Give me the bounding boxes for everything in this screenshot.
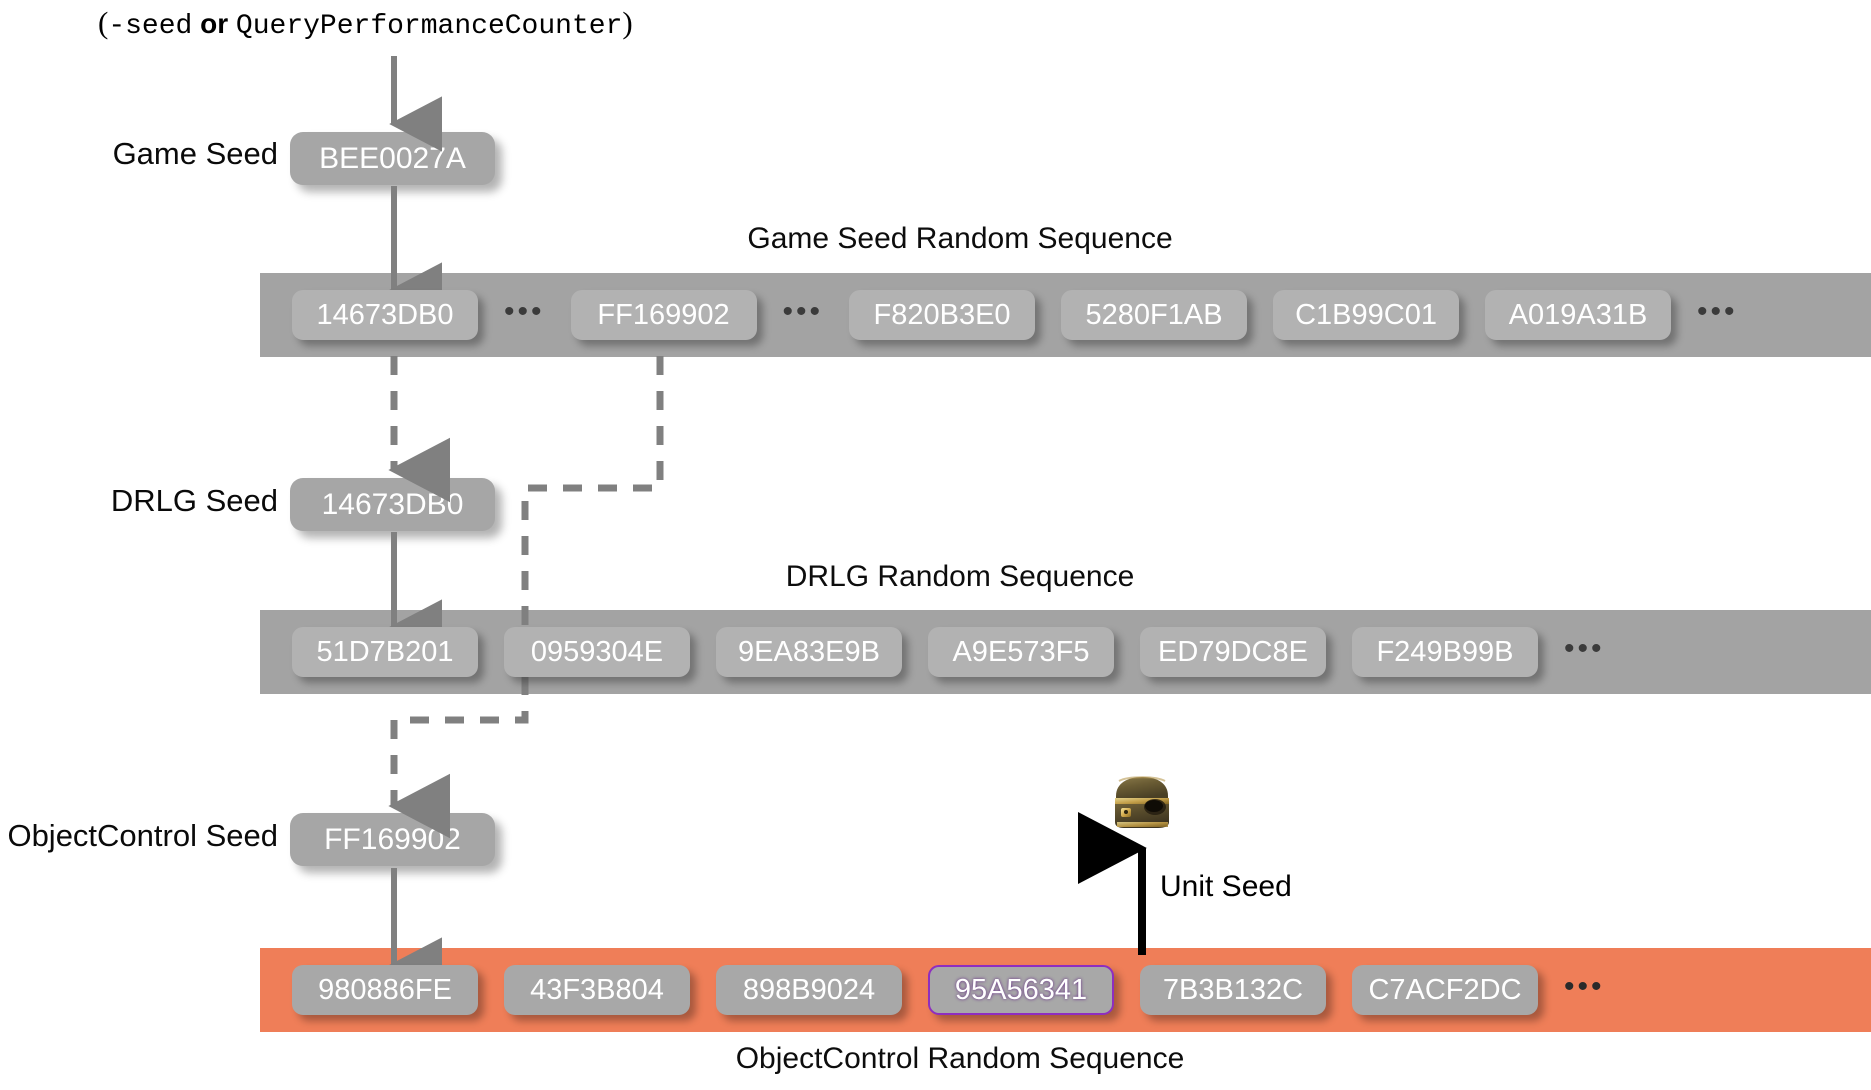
sequence-value: C7ACF2DC — [1352, 965, 1538, 1015]
objectcontrol-seed-value: FF169902 — [290, 813, 495, 866]
connector-layer — [0, 0, 1871, 1090]
sequence-value: A9E573F5 — [928, 627, 1114, 677]
sequence-value: F820B3E0 — [849, 290, 1035, 340]
sequence-value: FF169902 — [571, 290, 757, 340]
sequence-value-highlighted: 95A56341 — [928, 965, 1114, 1015]
expression-open-paren: ( — [98, 5, 108, 40]
sequence-value: 0959304E — [504, 627, 690, 677]
label-game-seed: Game Seed — [0, 136, 278, 172]
drlg-sequence-title: DRLG Random Sequence — [560, 560, 1360, 594]
sequence-value: 43F3B804 — [504, 965, 690, 1015]
header-expression: (-seed or QueryPerformanceCounter) — [98, 5, 633, 42]
expression-close-paren: ) — [622, 5, 632, 40]
sequence-ellipsis: ••• — [504, 297, 545, 333]
sequence-value: 980886FE — [292, 965, 478, 1015]
sequence-value: C1B99C01 — [1273, 290, 1459, 340]
sequence-value: A019A31B — [1485, 290, 1671, 340]
treasure-chest-icon — [1108, 772, 1178, 834]
diagram-canvas: (-seed or QueryPerformanceCounter) Game … — [0, 0, 1871, 1090]
sequence-ellipsis: ••• — [1564, 634, 1605, 670]
objectcontrol-random-sequence-band: 980886FE43F3B804898B902495A563417B3B132C… — [260, 948, 1871, 1032]
drlg-seed-value: 14673DB0 — [290, 478, 495, 531]
sequence-value: 9EA83E9B — [716, 627, 902, 677]
sequence-ellipsis: ••• — [1697, 297, 1738, 333]
sequence-ellipsis: ••• — [783, 297, 824, 333]
label-objectcontrol-seed: ObjectControl Seed — [0, 818, 278, 854]
expression-or-keyword: or — [192, 8, 236, 39]
objectcontrol-sequence-title: ObjectControl Random Sequence — [560, 1042, 1360, 1076]
game-seed-random-sequence-band: 14673DB0•••FF169902•••F820B3E05280F1ABC1… — [260, 273, 1871, 357]
sequence-value: 7B3B132C — [1140, 965, 1326, 1015]
game-sequence-title: Game Seed Random Sequence — [560, 222, 1360, 256]
game-seed-value: BEE0027A — [290, 132, 495, 185]
sequence-value: 51D7B201 — [292, 627, 478, 677]
sequence-value: 14673DB0 — [292, 290, 478, 340]
drlg-random-sequence-band: 51D7B2010959304E9EA83E9BA9E573F5ED79DC8E… — [260, 610, 1871, 694]
expression-api-name: QueryPerformanceCounter — [236, 11, 622, 42]
label-drlg-seed: DRLG Seed — [0, 483, 278, 519]
expression-seed-flag: -seed — [108, 11, 192, 42]
sequence-value: 5280F1AB — [1061, 290, 1247, 340]
sequence-value: 898B9024 — [716, 965, 902, 1015]
sequence-value: F249B99B — [1352, 627, 1538, 677]
sequence-ellipsis: ••• — [1564, 972, 1605, 1008]
sequence-value: ED79DC8E — [1140, 627, 1326, 677]
label-unit-seed: Unit Seed — [1160, 870, 1292, 904]
